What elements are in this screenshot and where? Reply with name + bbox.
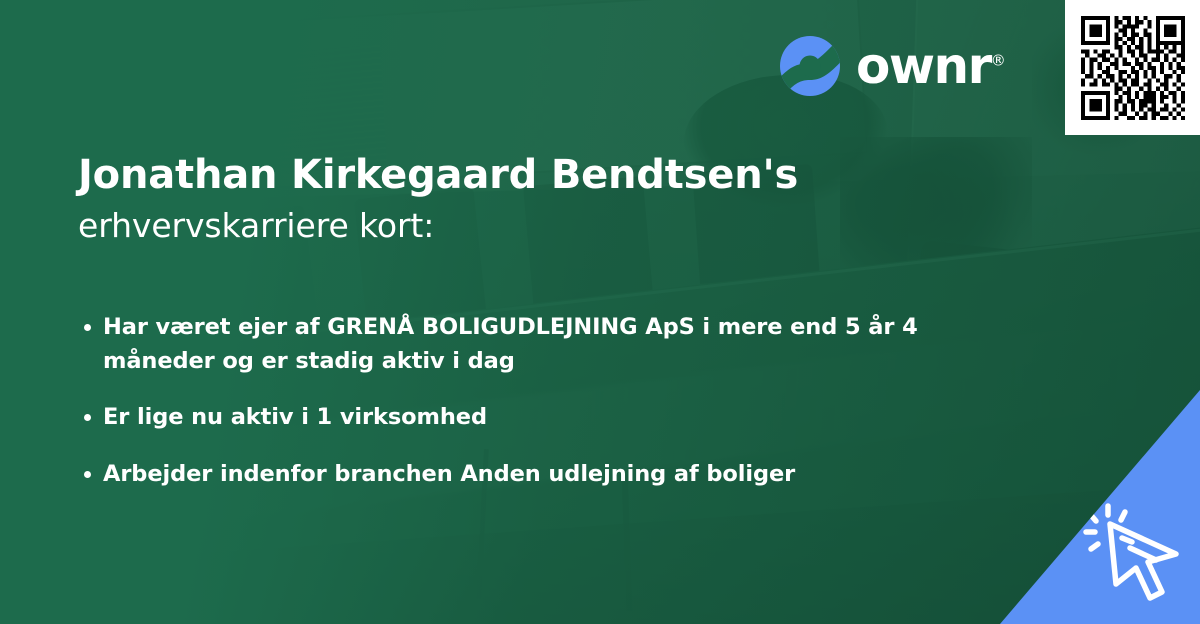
qr-code-icon [1081, 16, 1185, 120]
registered-trademark-icon: ® [991, 51, 1006, 69]
business-card-banner: ownr® [0, 0, 1200, 624]
ownr-logo[interactable]: ownr® [778, 34, 1006, 98]
list-item: Arbejder indenfor branchen Anden udlejni… [82, 457, 922, 491]
career-facts-list: Har været ejer af GRENÅ BOLIGUDLEJNING A… [82, 310, 922, 513]
wordmark-text: ownr [856, 37, 991, 95]
list-item: Er lige nu aktiv i 1 virksomhed [82, 400, 922, 434]
ownr-wordmark: ownr® [856, 41, 1006, 91]
list-item: Har været ejer af GRENÅ BOLIGUDLEJNING A… [82, 310, 922, 378]
ownr-circle-logo-icon [778, 34, 842, 98]
headline-line-1: Jonathan Kirkegaard Bendtsen's [78, 152, 898, 199]
page-title: Jonathan Kirkegaard Bendtsen's erhvervsk… [78, 152, 898, 248]
headline-line-2: erhvervskarriere kort: [78, 205, 898, 248]
qr-code-panel[interactable] [1065, 0, 1200, 135]
